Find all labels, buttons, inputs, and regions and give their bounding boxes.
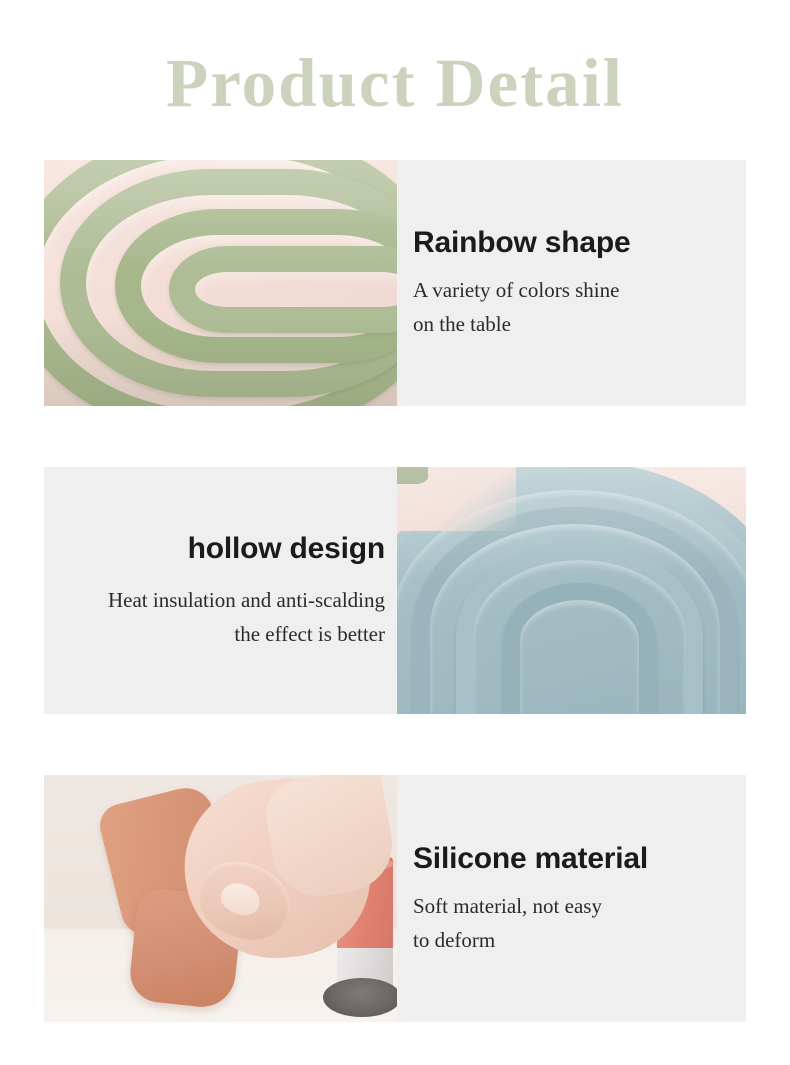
detail-row-hollow-design: hollow design Heat insulation and anti-s… [44,467,746,714]
blue-trivet-scene [397,467,746,714]
detail-row-silicone-material: Silicone material Soft material, not eas… [44,775,746,1022]
product-image-blue-trivet [397,467,746,714]
green-trivet-shape [44,160,397,406]
section-heading: Rainbow shape [413,225,746,261]
trivet-groove-inner [503,583,656,714]
section-body-line-1: A variety of colors shine [413,273,746,307]
section-body: A variety of colors shine on the table [413,273,746,341]
section-heading: hollow design [188,531,385,567]
section-body-line-2: on the table [413,307,746,341]
product-image-green-trivet [44,160,397,406]
text-panel-silicone-material: Silicone material Soft material, not eas… [397,775,746,1022]
section-body: Heat insulation and anti-scalding the ef… [108,583,385,651]
text-panel-hollow-design: hollow design Heat insulation and anti-s… [44,467,397,714]
section-body: Soft material, not easy to deform [413,889,746,957]
hand-trivet-scene [44,775,397,1022]
trivet-tube-inner [169,246,397,333]
product-image-hand-bending-trivet [44,775,397,1022]
section-heading: Silicone material [413,841,746,877]
section-body-line-1: Heat insulation and anti-scalding [108,583,385,617]
detail-row-rainbow-shape: Rainbow shape A variety of colors shine … [44,160,746,406]
section-body-line-2: the effect is better [108,617,385,651]
grey-saucer [323,978,397,1018]
section-body-line-2: to deform [413,923,746,957]
page-title: Product Detail [0,44,790,122]
green-trivet-scene [44,160,397,406]
green-corner-accent [397,467,428,484]
text-panel-rainbow-shape: Rainbow shape A variety of colors shine … [397,160,746,406]
section-body-line-1: Soft material, not easy [413,889,746,923]
